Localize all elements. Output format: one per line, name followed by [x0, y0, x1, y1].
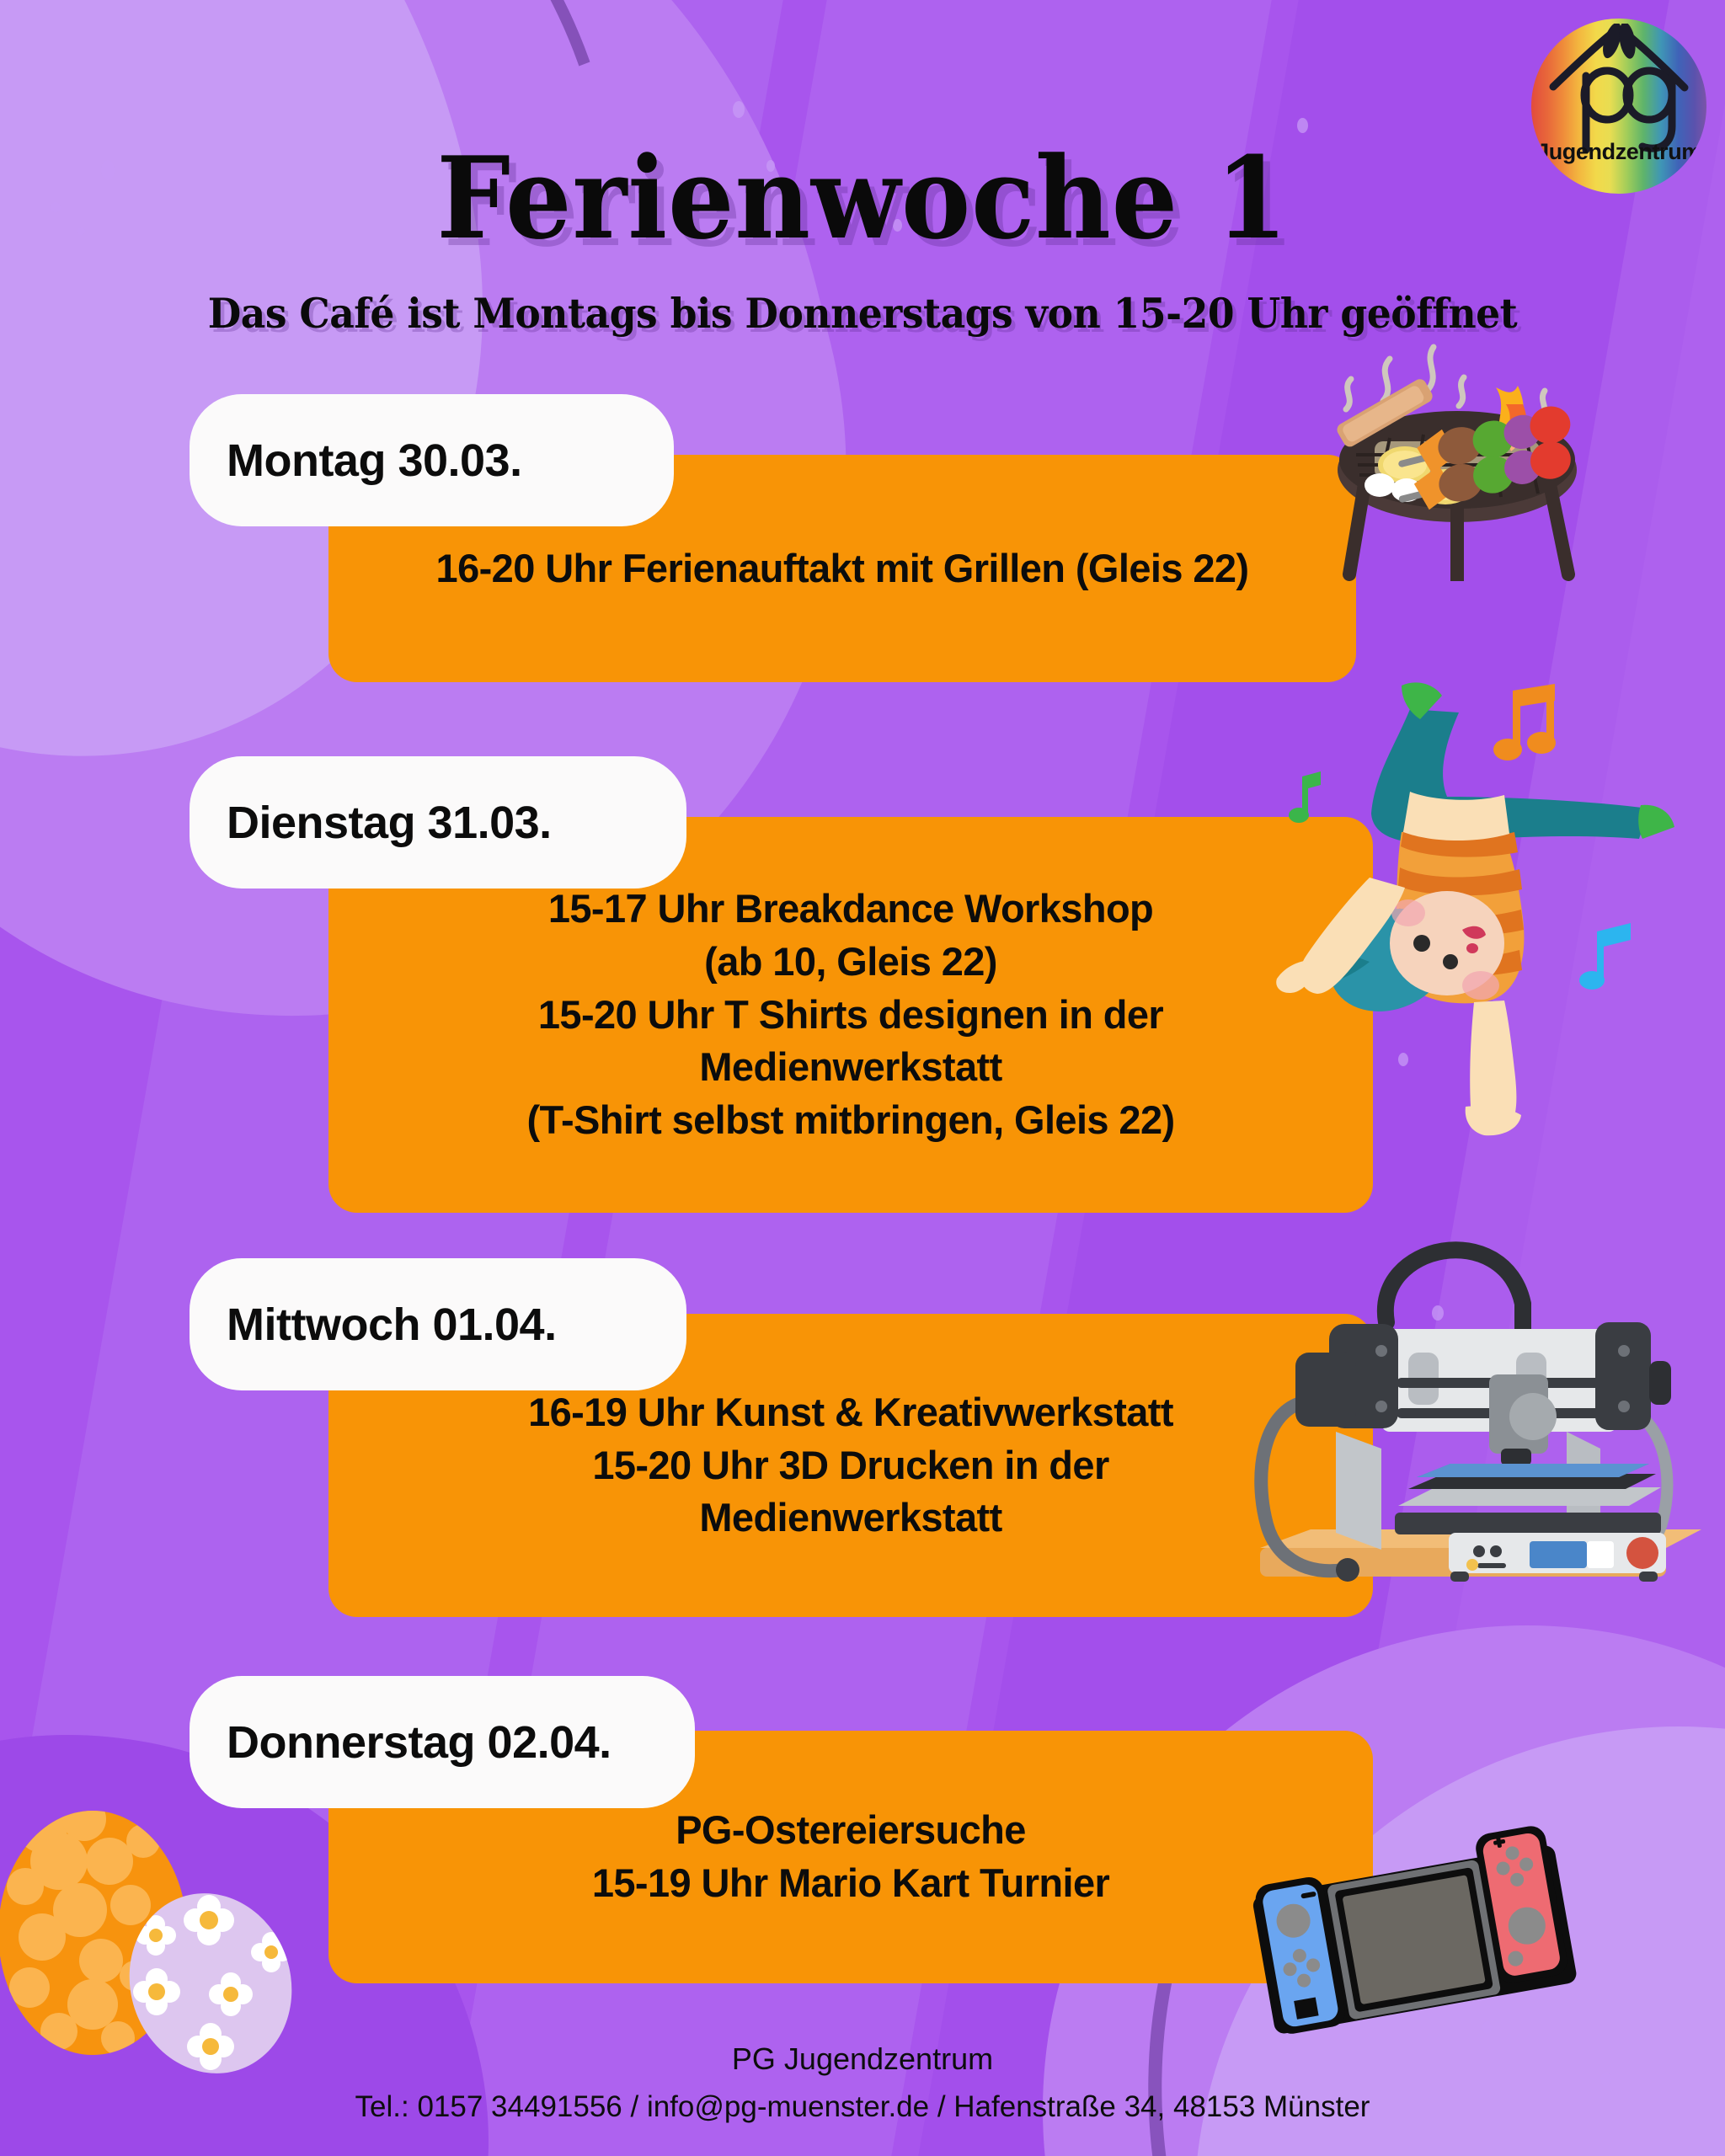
- easter-eggs-icon: [0, 1769, 337, 2105]
- day-line: 15-17 Uhr Breakdance Workshop: [548, 883, 1153, 936]
- barbecue-grill-icon: [1297, 337, 1617, 581]
- day-line: 15-20 Uhr 3D Drucken in der: [592, 1439, 1108, 1492]
- day-line: 16-19 Uhr Kunst & Kreativwerkstatt: [528, 1386, 1173, 1439]
- page-subtitle: Das Café ist Montags bis Donnerstags von…: [61, 289, 1665, 338]
- day-pill-montag: Montag 30.03.: [190, 394, 674, 526]
- day-line: (T-Shirt selbst mitbringen, Gleis 22): [526, 1094, 1174, 1147]
- day-line: PG-Ostereiersuche: [676, 1804, 1026, 1857]
- day-line: 16-20 Uhr Ferienauftakt mit Grillen (Gle…: [436, 542, 1249, 595]
- background-speck: [51, 202, 61, 212]
- day-label: Mittwoch 01.04.: [190, 1299, 557, 1351]
- background-speck: [1297, 118, 1308, 133]
- music-note-icon: [1289, 771, 1321, 823]
- day-pill-dienstag: Dienstag 31.03.: [190, 756, 686, 889]
- nintendo-switch-icon: [1238, 1819, 1592, 2063]
- day-line: Medienwerkstatt: [699, 1492, 1001, 1545]
- day-line: (ab 10, Gleis 22): [704, 936, 997, 989]
- music-note-icon: [1579, 923, 1631, 990]
- day-line: 15-20 Uhr T Shirts designen in der: [538, 989, 1163, 1042]
- day-label: Dienstag 31.03.: [190, 797, 552, 849]
- day-label: Donnerstag 02.04.: [190, 1716, 611, 1769]
- day-label: Montag 30.03.: [190, 435, 522, 487]
- page-title: Ferienwoche 1: [69, 141, 1656, 254]
- day-line: 15-19 Uhr Mario Kart Turnier: [592, 1857, 1109, 1910]
- day-line: Medienwerkstatt: [699, 1041, 1001, 1094]
- background-speck: [733, 101, 745, 118]
- 3d-printer-icon: [1230, 1196, 1718, 1617]
- breakdancer-icon: [1221, 665, 1725, 1171]
- poster-canvas: Jugendzentrum Ferienwoche 1 Das Café ist…: [0, 0, 1725, 2156]
- day-pill-mittwoch: Mittwoch 01.04.: [190, 1258, 686, 1390]
- music-note-icon: [1493, 684, 1556, 760]
